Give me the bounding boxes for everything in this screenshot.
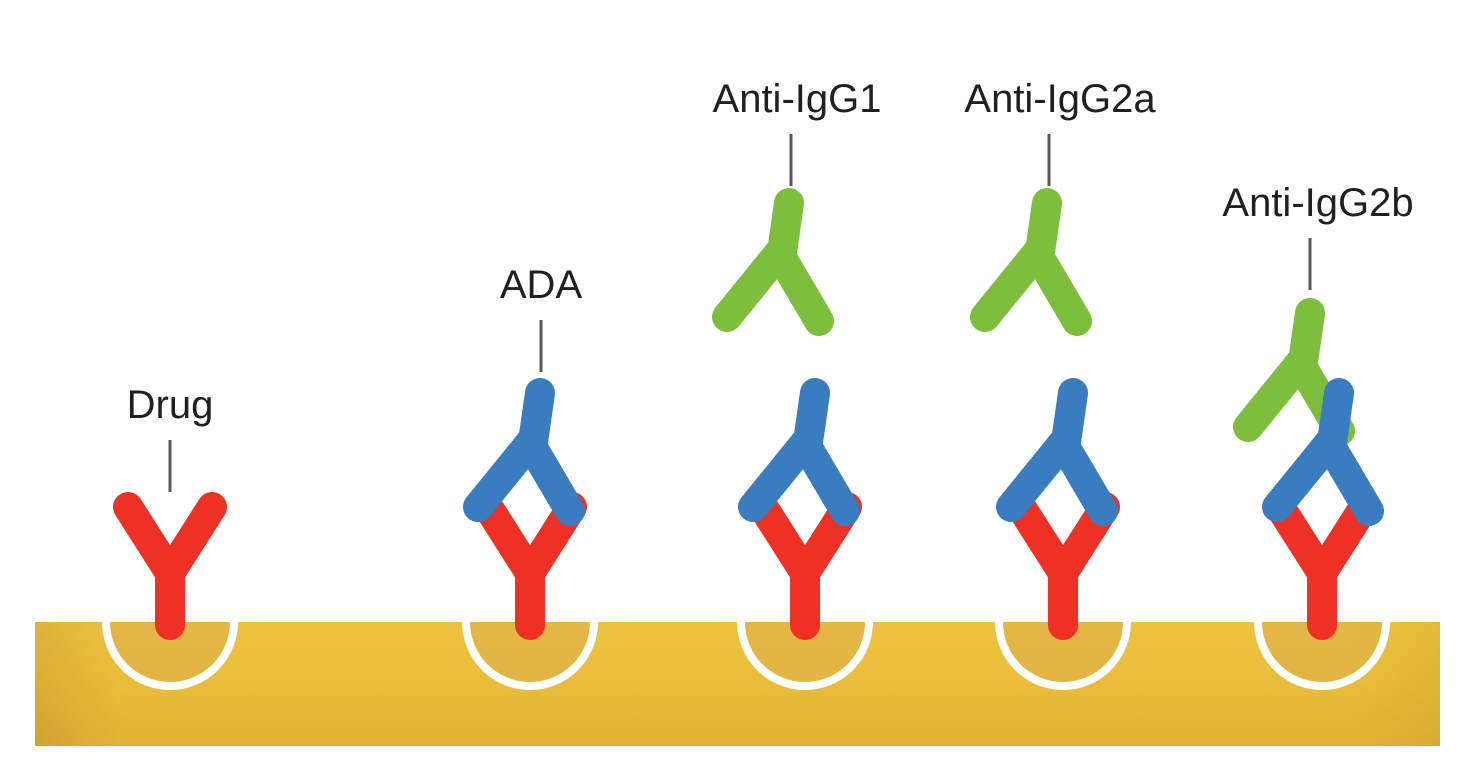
complex-anti-igg1 — [727, 203, 847, 625]
ada-antibody — [478, 393, 570, 511]
drug-antibody — [128, 507, 212, 625]
plate-body-shading — [35, 622, 1440, 746]
anti-igg2a-antibody — [985, 203, 1077, 321]
label-drug: Drug — [127, 383, 214, 427]
complex-drug-only — [128, 507, 212, 625]
label-anti-igg2a: Anti-IgG2a — [964, 77, 1156, 121]
ada-antibody — [753, 393, 845, 511]
anti-igg1-antibody — [727, 203, 819, 321]
diagram-canvas: Drug ADA Anti-IgG1 Anti-IgG2a Anti-IgG2b — [0, 0, 1480, 774]
label-anti-igg1: Anti-IgG1 — [713, 77, 882, 121]
label-ada: ADA — [500, 263, 583, 307]
complex-anti-igg2a — [985, 203, 1105, 625]
complex-drug-ada — [478, 393, 572, 625]
drug-antibody — [763, 507, 847, 625]
drug-antibody — [1280, 507, 1364, 625]
ada-antibody — [1277, 393, 1369, 511]
antibody-elisa-diagram: Drug ADA Anti-IgG1 Anti-IgG2a Anti-IgG2b — [0, 0, 1480, 774]
drug-antibody — [488, 507, 572, 625]
microtiter-plate-surface — [35, 622, 1440, 746]
complex-anti-igg2b — [1248, 313, 1369, 625]
ada-antibody — [1011, 393, 1103, 511]
drug-antibody — [1021, 507, 1105, 625]
label-anti-igg2b: Anti-IgG2b — [1222, 181, 1413, 225]
